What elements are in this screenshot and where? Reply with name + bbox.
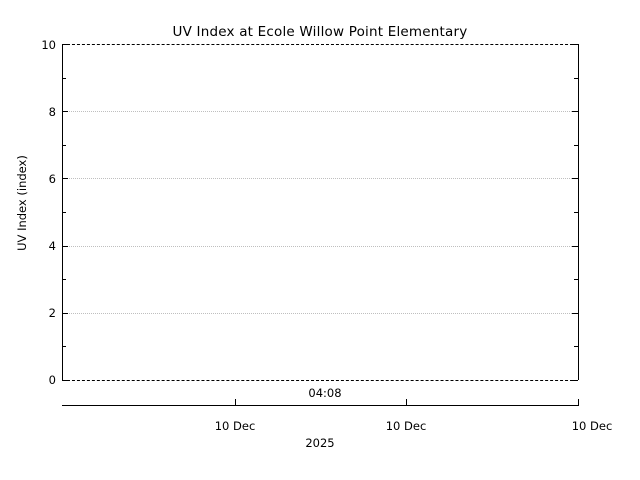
y-tick-label-6: 6 [49, 172, 56, 186]
x-tick-label-3: 10 Dec [572, 419, 613, 433]
plot-border-bottom [62, 380, 578, 381]
y-tick-minor-right-3 [574, 279, 578, 280]
x-axis-tick-2 [406, 399, 407, 406]
y-tick-major-right-0 [572, 380, 578, 381]
x-axis-tick-1 [235, 399, 236, 406]
y-tick-major-6 [62, 178, 68, 179]
y-tick-minor-7 [62, 145, 66, 146]
plot-area [62, 44, 578, 380]
y-tick-minor-5 [62, 212, 66, 213]
x-tick-label-2: 10 Dec [386, 419, 427, 433]
y-tick-minor-9 [62, 78, 66, 79]
y-tick-minor-1 [62, 346, 66, 347]
chart-figure: UV Index at Ecole Willow Point Elementar… [0, 0, 640, 480]
plot-border-right [578, 44, 579, 380]
x-axis-tick-3 [578, 399, 579, 406]
y-tick-major-0 [62, 380, 68, 381]
gridline-y-4 [62, 246, 578, 247]
y-tick-minor-3 [62, 279, 66, 280]
y-tick-major-10 [62, 44, 68, 45]
y-tick-minor-right-9 [574, 78, 578, 79]
gridline-y-8 [62, 111, 578, 112]
gridline-y-6 [62, 178, 578, 179]
y-tick-label-10: 10 [41, 38, 56, 52]
y-tick-minor-right-7 [574, 145, 578, 146]
y-tick-major-right-6 [572, 178, 578, 179]
y-tick-major-right-2 [572, 313, 578, 314]
y-tick-major-2 [62, 313, 68, 314]
x-tick-label-1: 10 Dec [215, 419, 256, 433]
x-axis-year-label: 2025 [0, 436, 640, 450]
y-tick-label-8: 8 [49, 105, 56, 119]
x-inner-time-label: 04:08 [308, 386, 341, 400]
y-tick-major-right-10 [572, 44, 578, 45]
y-tick-label-2: 2 [49, 306, 56, 320]
y-axis-title: UV Index (index) [15, 113, 29, 293]
y-tick-major-right-8 [572, 111, 578, 112]
x-axis-line [62, 405, 579, 406]
y-tick-major-8 [62, 111, 68, 112]
plot-border-top [62, 44, 578, 45]
y-tick-major-4 [62, 246, 68, 247]
chart-title: UV Index at Ecole Willow Point Elementar… [0, 24, 640, 40]
y-tick-major-right-4 [572, 246, 578, 247]
y-tick-minor-right-1 [574, 346, 578, 347]
y-tick-label-0: 0 [49, 373, 56, 387]
y-tick-label-4: 4 [49, 239, 56, 253]
y-tick-minor-right-5 [574, 212, 578, 213]
gridline-y-2 [62, 313, 578, 314]
